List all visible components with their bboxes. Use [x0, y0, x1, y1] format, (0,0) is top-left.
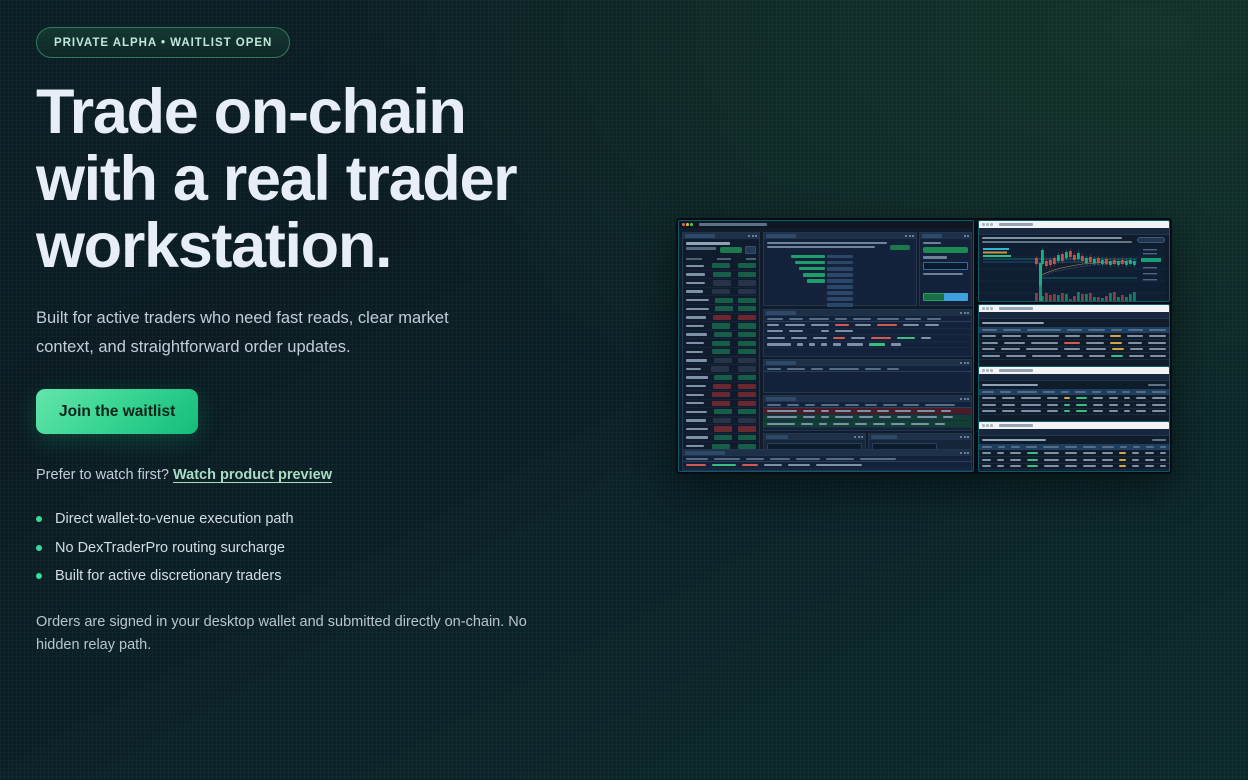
bid-size-bar	[764, 261, 827, 264]
watchlist-price	[711, 366, 729, 371]
table-cell	[803, 410, 815, 412]
watchlist-change	[738, 341, 756, 346]
table-cell	[1132, 452, 1139, 454]
table-cell	[879, 416, 891, 418]
table-cell	[869, 343, 885, 345]
watchlist-price	[714, 426, 732, 431]
watchlist-row[interactable]	[685, 357, 757, 366]
watchlist-row[interactable]	[685, 288, 757, 297]
table-cell	[1010, 459, 1020, 461]
depth-row[interactable]	[764, 260, 916, 265]
ticket-side-toggle[interactable]	[923, 247, 968, 253]
table-toolbar[interactable]	[979, 312, 1169, 319]
bullet-dot-icon	[36, 516, 42, 522]
panel-controls[interactable]	[905, 235, 914, 237]
price-level	[827, 267, 853, 271]
watchlist-row[interactable]	[685, 296, 757, 305]
table-cell	[1010, 465, 1020, 467]
watchlist-symbol	[686, 359, 707, 361]
table-cell	[1065, 459, 1077, 461]
close-icon	[982, 369, 985, 372]
join-waitlist-button[interactable]: Join the waitlist	[36, 389, 198, 434]
table-cell	[917, 416, 937, 418]
watchlist-symbol	[686, 411, 707, 413]
table-cell	[803, 416, 815, 418]
fills-rows[interactable]	[764, 408, 971, 428]
table-cell	[1160, 465, 1166, 467]
watchlist-price	[712, 401, 730, 406]
table-cell	[982, 355, 1000, 357]
watchlist-price	[715, 306, 733, 311]
depth-ladder-rows[interactable]	[764, 254, 916, 306]
table-cell	[1031, 342, 1058, 344]
watchlist-row[interactable]	[685, 305, 757, 314]
table-cell	[997, 465, 1004, 467]
watchlist-price	[713, 280, 731, 285]
table-cell	[1149, 348, 1166, 350]
table-cell	[813, 337, 827, 339]
log-line	[872, 471, 934, 472]
table-cell	[982, 410, 996, 412]
table-cell	[1124, 404, 1130, 406]
table-row[interactable]	[979, 409, 1169, 416]
panel-tab[interactable]	[766, 234, 796, 238]
positions-rows[interactable]	[764, 322, 971, 348]
list-item: Built for active discretionary traders	[36, 562, 636, 591]
panel-tab[interactable]	[766, 435, 788, 439]
ticket-preview-button[interactable]	[923, 293, 945, 301]
table-cell	[767, 410, 797, 412]
panel-tab[interactable]	[766, 311, 796, 315]
watchlist-row[interactable]	[685, 382, 757, 391]
bid-size-bar	[764, 255, 827, 258]
watchlist-symbol	[686, 376, 708, 378]
depth-row[interactable]	[764, 254, 916, 259]
table-cell	[1083, 459, 1096, 461]
watchlist-row[interactable]	[685, 365, 757, 374]
table-cell	[809, 343, 815, 345]
ticket-field-label	[923, 256, 947, 258]
table-cell	[1127, 335, 1142, 337]
panel-controls[interactable]	[854, 436, 863, 438]
panel-controls[interactable]	[960, 436, 969, 438]
bullet-dot-icon	[36, 573, 42, 579]
watchlist-price	[713, 418, 731, 423]
watchlist-symbol	[686, 316, 706, 318]
table-cell	[833, 343, 841, 345]
maximize-icon	[690, 223, 693, 226]
table-cell	[982, 465, 991, 467]
watchlist-status-badge	[720, 247, 742, 253]
panel-controls[interactable]	[960, 398, 969, 400]
depth-row[interactable]	[764, 303, 916, 308]
window-title	[999, 223, 1033, 225]
page-title: Trade on-chain with a real trader workst…	[36, 79, 636, 280]
bullet-dot-icon	[36, 545, 42, 551]
window-title	[999, 307, 1033, 309]
table-cell	[1109, 397, 1118, 399]
table-cell	[1086, 342, 1104, 344]
watchlist-symbol	[686, 333, 707, 335]
bid-size-bar	[764, 267, 827, 270]
maximize-icon	[990, 223, 993, 226]
watchlist-change	[738, 349, 756, 354]
table-cell	[1086, 335, 1103, 337]
table-cell	[1102, 452, 1112, 454]
watchlist-change	[738, 280, 756, 285]
panel-tab[interactable]	[685, 234, 715, 238]
depth-row[interactable]	[764, 284, 916, 289]
table-row[interactable]	[979, 395, 1169, 402]
watchlist-row[interactable]	[685, 391, 757, 400]
orders-column-headers	[764, 366, 971, 372]
table-row[interactable]	[764, 415, 971, 422]
table-row[interactable]	[764, 329, 971, 336]
table-cell	[1064, 348, 1079, 350]
table-cell	[1064, 410, 1070, 412]
watchlist-row[interactable]	[685, 279, 757, 288]
close-icon	[682, 223, 685, 226]
price-level	[827, 255, 853, 259]
depth-row[interactable]	[764, 297, 916, 302]
table-toolbar[interactable]	[979, 429, 1169, 436]
watchlist-row[interactable]	[685, 434, 757, 443]
window-title	[699, 223, 767, 225]
feature-list: Direct wallet-to-venue execution path No…	[36, 505, 636, 591]
landing-page: PRIVATE ALPHA • WAITLIST OPEN Trade on-c…	[0, 0, 1248, 780]
table-cell	[1119, 465, 1126, 467]
price-level	[827, 291, 853, 295]
watchlist-change	[738, 289, 756, 294]
table-row[interactable]	[979, 464, 1169, 471]
table-toolbar[interactable]	[979, 374, 1169, 381]
table-cell	[1002, 397, 1015, 399]
table-cell	[821, 410, 829, 412]
price-level	[827, 261, 853, 265]
orders-panel	[763, 359, 972, 393]
panel-tab[interactable]	[871, 435, 897, 439]
table-cell	[833, 337, 845, 339]
table-row[interactable]	[764, 335, 971, 342]
table-row[interactable]	[979, 457, 1169, 464]
positions-panel	[763, 309, 972, 357]
table-cell	[1145, 452, 1154, 454]
table-cell	[1093, 404, 1102, 406]
table-cell	[857, 410, 871, 412]
ticket-symbol-label	[923, 242, 941, 244]
table-cell	[997, 459, 1004, 461]
ticket-submit-button[interactable]	[944, 293, 968, 301]
table-cell	[895, 410, 911, 412]
panel-controls[interactable]	[964, 235, 970, 237]
watchlist-change	[738, 298, 756, 303]
panel-tab[interactable]	[766, 361, 796, 365]
table-cell	[1145, 465, 1154, 467]
table-cell	[1109, 410, 1118, 412]
table-row[interactable]	[979, 340, 1169, 347]
watchlist-symbol	[686, 368, 701, 370]
watchlist-row[interactable]	[685, 408, 757, 417]
table-cell	[1065, 465, 1077, 467]
candlestick-chart[interactable]	[979, 245, 1165, 303]
table-row[interactable]	[979, 402, 1169, 409]
table-rows[interactable]	[979, 450, 1169, 472]
depth-status-badge	[890, 245, 910, 250]
table-cell	[1119, 459, 1126, 461]
table-cell	[1027, 459, 1039, 461]
table-row[interactable]	[764, 322, 971, 329]
watchlist-change	[738, 418, 756, 423]
panel-tab[interactable]	[685, 451, 725, 455]
table-cell	[1110, 342, 1122, 344]
bid-size-bar	[764, 273, 827, 276]
table-cell	[1109, 404, 1118, 406]
table-row[interactable]	[979, 333, 1169, 340]
ticket-quantity-input[interactable]	[923, 262, 968, 270]
table-cell	[1047, 404, 1058, 406]
table-cell	[1086, 348, 1107, 350]
table-cell	[1044, 459, 1059, 461]
table-cell	[1112, 348, 1123, 350]
table-cell	[1076, 410, 1087, 412]
watchlist-row[interactable]	[685, 425, 757, 434]
price-level	[827, 273, 853, 277]
table-cell	[1021, 404, 1041, 406]
window-titlebar	[979, 305, 1169, 312]
watchlist-symbol	[686, 273, 705, 275]
table-cell	[1026, 348, 1058, 350]
watchlist-row[interactable]	[685, 417, 757, 426]
table-cell	[1102, 465, 1112, 467]
watchlist-symbol	[686, 471, 704, 472]
table-row[interactable]	[683, 462, 971, 469]
product-screenshot-mockup	[676, 218, 1172, 474]
table-cell	[1083, 452, 1096, 454]
table-cell	[1136, 410, 1145, 412]
main-trading-window	[678, 220, 974, 472]
depth-row[interactable]	[764, 272, 916, 277]
table-cell	[1149, 335, 1166, 337]
table-rows[interactable]	[979, 333, 1169, 359]
watchlist-row[interactable]	[685, 271, 757, 280]
candlestick-chart-svg	[979, 245, 1165, 303]
watchlist-change	[738, 315, 756, 320]
headline-line-1: Trade on-chain	[36, 79, 636, 146]
panel-controls[interactable]	[960, 312, 969, 314]
watchlist-change	[738, 306, 756, 311]
list-item: No DexTraderPro routing surcharge	[36, 534, 636, 563]
maximize-icon	[990, 424, 993, 427]
table-cell	[1047, 410, 1058, 412]
watchlist-change	[738, 426, 756, 431]
table-cell	[1093, 410, 1102, 412]
table-cell	[821, 416, 829, 418]
watchlist-change	[738, 366, 756, 371]
table-cell	[1152, 410, 1166, 412]
table-cell	[1021, 397, 1041, 399]
table-cell	[791, 337, 807, 339]
table-cell	[767, 337, 785, 339]
watchlist-row[interactable]	[685, 374, 757, 383]
watchlist-symbol	[686, 290, 703, 292]
status-strip-panel	[682, 449, 972, 471]
table-cell	[859, 416, 873, 418]
table-cell	[982, 348, 995, 350]
table-cell	[1065, 452, 1077, 454]
table-cell	[1044, 452, 1059, 454]
window-titlebar	[679, 221, 973, 228]
watchlist-row[interactable]	[685, 322, 757, 331]
table-cell	[917, 410, 935, 412]
table-row[interactable]	[979, 450, 1169, 457]
table-cell	[1110, 335, 1122, 337]
table-cell	[873, 423, 885, 425]
table-cell	[1150, 355, 1166, 357]
list-item: Direct wallet-to-venue execution path	[36, 505, 636, 534]
depth-ladder-panel	[763, 232, 917, 306]
watchlist-price	[712, 263, 730, 268]
table-row[interactable]	[979, 347, 1169, 354]
minimize-icon	[986, 369, 989, 372]
table-cell	[925, 324, 939, 326]
watch-product-preview-link[interactable]: Watch product preview	[173, 467, 332, 483]
table-cell	[1044, 465, 1059, 467]
table-cell	[1027, 335, 1060, 337]
table-cell	[1002, 335, 1021, 337]
chart-export-button[interactable]	[1137, 237, 1165, 243]
table-cell	[871, 337, 891, 339]
watchlist-symbol	[686, 265, 704, 267]
depth-row[interactable]	[764, 290, 916, 295]
watchlist-symbol	[686, 419, 706, 421]
table-cell	[801, 423, 813, 425]
table-cell	[855, 423, 867, 425]
watchlist-row[interactable]	[685, 348, 757, 357]
watchlist-price	[713, 272, 731, 277]
table-cell	[1160, 452, 1166, 454]
table-cell	[855, 324, 871, 326]
window-titlebar	[979, 422, 1169, 429]
watchlist-symbol	[686, 299, 709, 301]
window-titlebar	[979, 367, 1169, 374]
maximize-icon	[990, 369, 993, 372]
depth-row[interactable]	[764, 278, 916, 283]
table-cell	[1006, 355, 1026, 357]
watchlist-title	[686, 242, 730, 245]
table-cell	[1067, 355, 1083, 357]
table-cell	[1002, 404, 1015, 406]
table-cell	[767, 416, 797, 418]
watchlist-row[interactable]	[685, 331, 757, 340]
table-cell	[835, 416, 853, 418]
table-cell	[921, 337, 931, 339]
watchlist-price	[714, 332, 732, 337]
panel-controls[interactable]	[748, 235, 757, 237]
table-rows[interactable]	[979, 395, 1169, 415]
table-cell	[1124, 410, 1130, 412]
table-cell	[1065, 335, 1080, 337]
table-row[interactable]	[764, 421, 971, 428]
watchlist-change	[738, 435, 756, 440]
panel-controls[interactable]	[960, 452, 969, 454]
watchlist-row[interactable]	[685, 262, 757, 271]
chart-toolbar[interactable]	[979, 228, 1169, 235]
maximize-icon	[990, 307, 993, 310]
table-cell	[1076, 397, 1087, 399]
table-cell	[851, 337, 865, 339]
table-section-title	[979, 319, 1169, 327]
table-cell	[1111, 355, 1124, 357]
watchlist-row[interactable]	[685, 400, 757, 409]
price-level	[827, 297, 853, 301]
table-cell	[1124, 397, 1130, 399]
watchlist-change	[738, 323, 756, 328]
watchlist-row[interactable]	[685, 339, 757, 348]
watchlist-price	[714, 375, 732, 380]
headline-line-3: workstation.	[36, 213, 636, 280]
table-row[interactable]	[764, 342, 971, 349]
table-cell	[833, 423, 849, 425]
table-section-title	[979, 381, 1169, 389]
table-cell	[982, 397, 996, 399]
watchlist-change	[738, 263, 756, 268]
panel-tab[interactable]	[766, 397, 796, 401]
table-cell	[789, 330, 803, 332]
list-item-label: Built for active discretionary traders	[55, 568, 281, 584]
watchlist-price	[715, 298, 733, 303]
table-cell	[1027, 465, 1039, 467]
watchlist-rows[interactable]	[683, 262, 759, 472]
watchlist-change	[738, 409, 756, 414]
order-ticket-panel	[919, 232, 972, 306]
table-row[interactable]	[764, 408, 971, 415]
table-cell	[1152, 404, 1166, 406]
panel-controls[interactable]	[960, 362, 969, 364]
table-cell	[1119, 452, 1126, 454]
close-icon	[982, 424, 985, 427]
log-header	[869, 434, 971, 440]
table-row[interactable]	[979, 470, 1169, 472]
status-badge: PRIVATE ALPHA • WAITLIST OPEN	[36, 27, 290, 58]
table-cell	[1152, 397, 1166, 399]
table-cell	[1002, 410, 1015, 412]
table-cell	[1004, 342, 1025, 344]
window-title	[999, 424, 1033, 426]
chat-header	[764, 434, 865, 440]
table-cell	[835, 330, 853, 332]
table-cell	[982, 342, 998, 344]
bid-size-bar	[764, 279, 827, 282]
table-cell	[897, 337, 915, 339]
table-cell	[1102, 459, 1112, 461]
watchlist-change	[738, 272, 756, 277]
table-cell	[1089, 355, 1105, 357]
table-cell	[1136, 397, 1145, 399]
panel-tab[interactable]	[922, 234, 942, 238]
table-row[interactable]	[979, 353, 1169, 360]
watchlist-price	[714, 435, 732, 440]
depth-row[interactable]	[764, 266, 916, 271]
table-cell	[1021, 410, 1041, 412]
table-cell	[877, 324, 897, 326]
watchlist-settings-button[interactable]	[745, 246, 756, 254]
table-cell	[911, 423, 929, 425]
watchlist-symbol	[686, 428, 708, 430]
table-section-title	[979, 436, 1169, 444]
watchlist-symbol	[686, 445, 704, 447]
watchlist-row[interactable]	[685, 314, 757, 323]
watchlist-price	[713, 315, 731, 320]
